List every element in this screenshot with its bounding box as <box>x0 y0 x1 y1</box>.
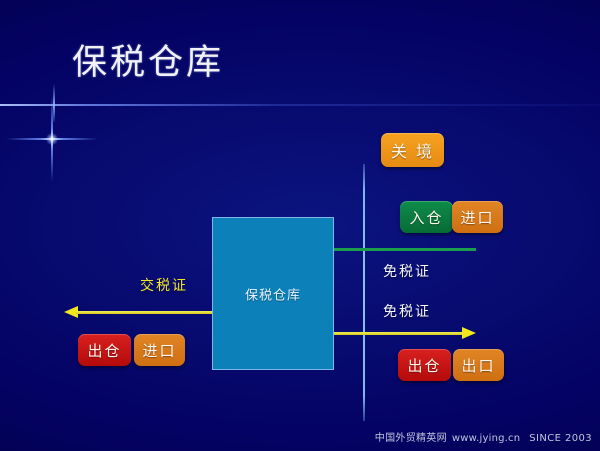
title-divider-vertical <box>53 84 55 122</box>
footer-since: SINCE 2003 <box>529 433 592 444</box>
arrow-head-right-icon <box>462 327 476 339</box>
tag-out-warehouse-left[interactable]: 出仓 <box>78 334 131 366</box>
customs-boundary-line <box>363 164 365 421</box>
footer-watermark: 中国外贸精英网 www.jying.cn SINCE 2003 <box>375 429 592 444</box>
arrow-yellow-outbound-left <box>64 306 216 318</box>
tag-in-warehouse[interactable]: 入仓 <box>400 201 453 233</box>
bonded-warehouse-box: 保税仓库 <box>212 217 334 370</box>
sparkle-horizontal-beam <box>6 138 98 140</box>
slide-canvas: 保税仓库 保税仓库 关 境 入仓 进口 出仓 出口 出仓 进口 交税证 免税证 … <box>0 0 600 451</box>
tag-customs-zone[interactable]: 关 境 <box>381 133 444 167</box>
sparkle-core <box>46 133 58 145</box>
footer-url: www.jying.cn <box>452 433 520 444</box>
tag-out-warehouse-right[interactable]: 出仓 <box>398 349 451 381</box>
arrow-shaft <box>310 248 476 251</box>
label-tax-certificate: 交税证 <box>140 275 188 295</box>
tag-import-left[interactable]: 进口 <box>134 334 185 366</box>
label-exempt-certificate-upper: 免税证 <box>383 261 431 281</box>
page-title: 保税仓库 <box>72 34 224 85</box>
label-exempt-certificate-lower: 免税证 <box>383 301 431 321</box>
tag-import-top[interactable]: 进口 <box>452 201 503 233</box>
sparkle-icon <box>6 96 98 182</box>
title-divider-horizontal <box>0 104 600 106</box>
footer-site-name: 中国外贸精英网 <box>375 429 447 444</box>
arrow-shaft <box>76 311 216 314</box>
tag-export[interactable]: 出口 <box>453 349 504 381</box>
bonded-warehouse-label: 保税仓库 <box>213 284 333 303</box>
